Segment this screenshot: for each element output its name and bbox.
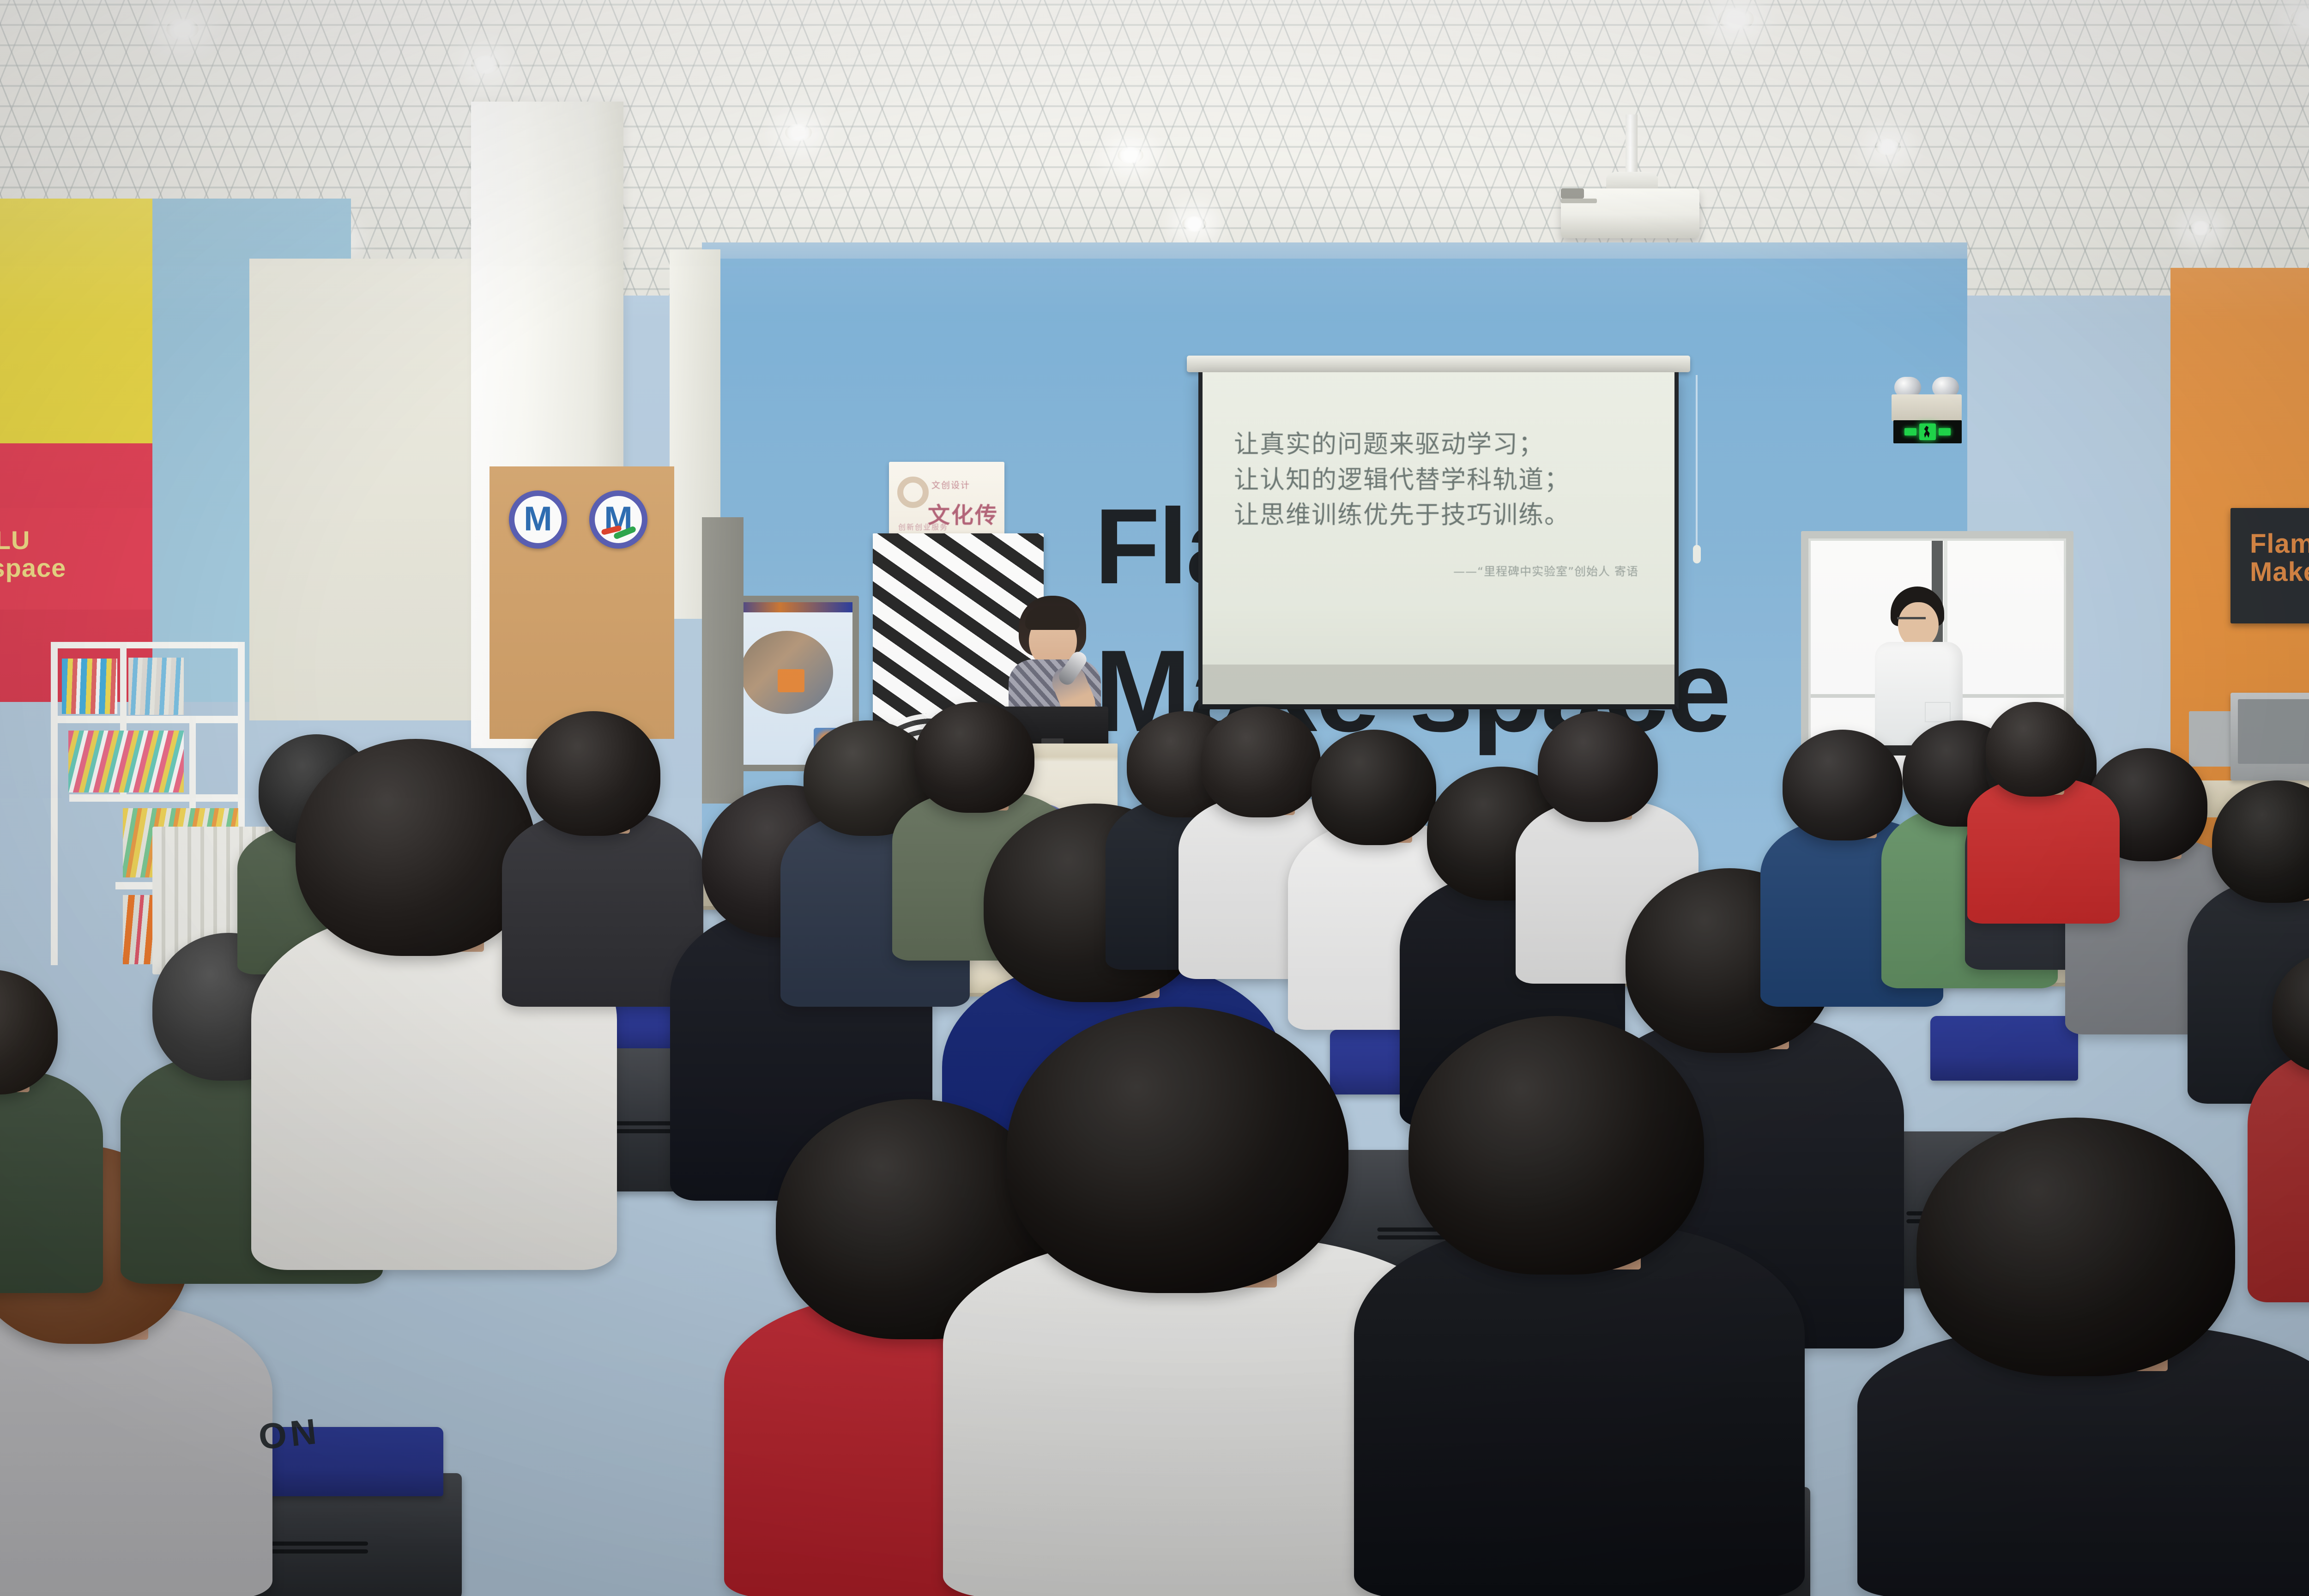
slide-content: 让真实的问题来驱动学习； 让认知的逻辑代替学科轨道； 让思维训练优先于技巧训练。… xyxy=(1203,372,1674,579)
audience-head xyxy=(2272,951,2309,1074)
sign-right-line1: Flame JLU xyxy=(2250,530,2309,558)
audience-head xyxy=(914,702,1034,813)
screen-pull-cord-knob[interactable] xyxy=(1693,545,1701,563)
audience-head xyxy=(1007,1007,1348,1293)
book-row xyxy=(62,659,117,714)
grey-pillar xyxy=(702,517,743,804)
audience-head xyxy=(1916,1118,2235,1376)
audience-head xyxy=(1312,730,1436,845)
audience-member xyxy=(1408,1016,1750,1596)
ceiling-downlight xyxy=(1875,139,1901,155)
audience-member xyxy=(0,970,79,1293)
audience-head xyxy=(1986,702,2085,797)
host-shirt-pocket xyxy=(1925,702,1951,722)
presenter-fringe xyxy=(1025,606,1080,630)
audience-member xyxy=(2272,951,2309,1302)
countertop-appliance xyxy=(2230,693,2309,780)
garment-text: ON xyxy=(257,1410,322,1457)
host-face xyxy=(1898,602,1939,647)
projection-screen: 让真实的问题来驱动学习； 让认知的逻辑代替学科轨道； 让思维训练优先于技巧训练。… xyxy=(1198,372,1679,709)
audience-torso xyxy=(1967,778,2120,924)
sign-right-line2: Maker space xyxy=(2250,558,2309,586)
audience-torso xyxy=(0,1070,103,1293)
slide-attribution: ——“里程碑中实验室”创始人 寄语 xyxy=(1234,562,1650,579)
poster-caption: 创新创业服务 xyxy=(898,521,948,532)
glasses-icon xyxy=(1897,617,1926,623)
maker-emblem-icon: M xyxy=(589,490,647,549)
projector-mount-pole xyxy=(1626,115,1638,179)
slide-line-1: 让真实的问题来驱动学习； xyxy=(1234,427,1650,462)
projector-lens-icon xyxy=(1561,188,1584,199)
sign-left-line2: er space xyxy=(0,554,152,582)
audience-head xyxy=(1783,730,1903,840)
slide-line-2: 让认知的逻辑代替学科轨道； xyxy=(1234,462,1650,498)
emergency-light-box xyxy=(1892,394,1962,421)
projection-screen-case xyxy=(1187,356,1690,372)
audience-member xyxy=(1916,1118,2286,1596)
display-photo-circle xyxy=(741,631,833,714)
maker-emblem-icon: M xyxy=(509,490,567,549)
foreground-garment-text: ON xyxy=(257,1410,322,1458)
emblem-letter: M xyxy=(524,499,552,538)
poster-culture-media: 文创设计 文化传媒 创新创业服务 xyxy=(889,462,1004,540)
emergency-exit-assembly xyxy=(1884,374,1972,443)
audience-head xyxy=(1408,1016,1704,1275)
exit-arrow-left-icon xyxy=(1904,428,1916,435)
audience-member xyxy=(1007,1007,1404,1596)
appliance-door[interactable] xyxy=(2238,699,2309,764)
sign-flame-jlu-maker-space-right: Flame JLU Maker space xyxy=(2230,508,2309,623)
audience-member xyxy=(526,711,679,1007)
ceiling-downlight xyxy=(2189,221,2212,236)
auditorium-chair-back[interactable] xyxy=(1930,1016,2078,1081)
audience-member xyxy=(1986,702,2101,924)
projector-vent xyxy=(1561,199,1597,203)
ceiling-downlight xyxy=(166,18,199,40)
slide-line-3: 让思维训练优先于技巧训练。 xyxy=(1234,497,1650,533)
exit-arrow-right-icon xyxy=(1939,428,1951,435)
audience-torso xyxy=(1354,1223,1805,1596)
running-person-icon xyxy=(1919,423,1936,440)
book-row xyxy=(128,658,184,715)
audience-head xyxy=(1201,707,1321,817)
ceiling-downlight xyxy=(471,55,500,74)
lecture-hall-photo: Fla Make space Flame JLU Maker space e J… xyxy=(0,0,2309,1596)
ceiling-downlight xyxy=(1118,147,1143,163)
sign-flame-jlu-maker-space-left: e JLU er space xyxy=(0,508,152,610)
audience-head xyxy=(296,739,536,956)
ceiling-downlight xyxy=(1182,216,1206,232)
poster-ring-icon xyxy=(897,477,929,508)
ceiling-downlight xyxy=(1718,7,1754,30)
poster-subline: 文创设计 xyxy=(931,478,970,491)
audience-torso xyxy=(0,1304,272,1596)
audience-head xyxy=(526,711,660,836)
display-header-bar xyxy=(731,602,852,612)
audience-head xyxy=(1538,711,1658,822)
book-row xyxy=(68,731,184,792)
ceiling-projector xyxy=(1561,188,1699,238)
audience-head xyxy=(2212,780,2309,903)
column-tan-panel: M M xyxy=(490,466,674,739)
wall-cream xyxy=(249,259,508,720)
screen-bottom-band xyxy=(1203,665,1674,704)
ceiling-downlight xyxy=(785,124,812,141)
sign-left-line1: e JLU xyxy=(0,526,152,554)
screen-pull-cord[interactable] xyxy=(1696,375,1698,550)
exit-sign xyxy=(1893,420,1962,443)
